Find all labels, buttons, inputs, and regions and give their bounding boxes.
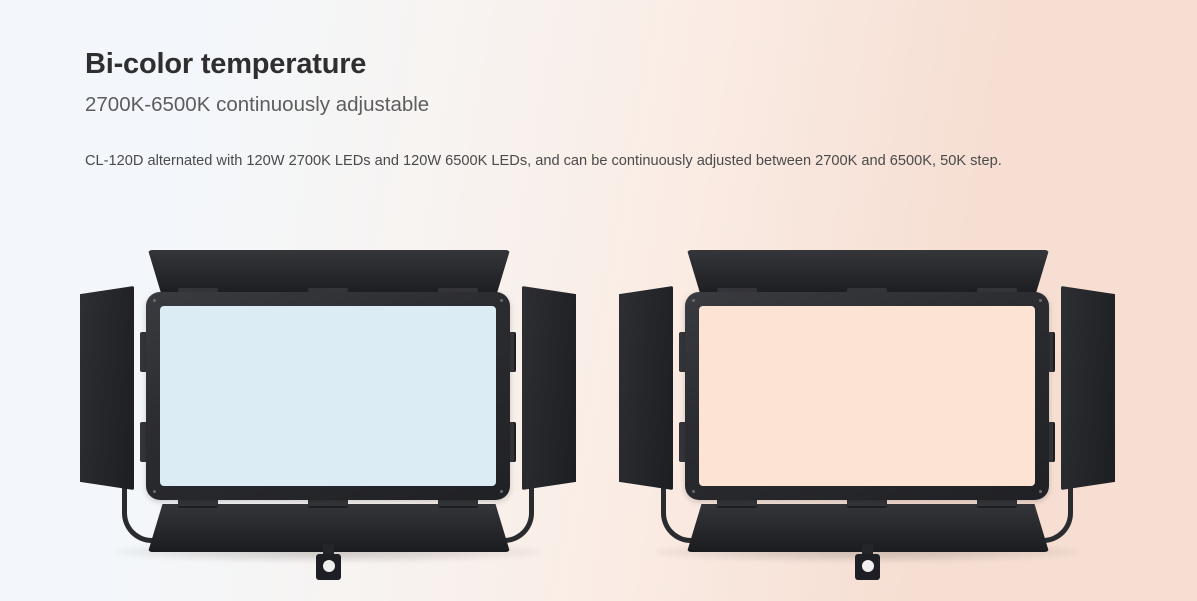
screw-bottom-left (692, 490, 695, 493)
screw-top-right (1039, 299, 1042, 302)
screw-bottom-right (1039, 490, 1042, 493)
barn-door-right (522, 286, 576, 490)
light-frame (685, 292, 1049, 500)
barn-door-left (80, 286, 134, 490)
led-light-fixture-cool (78, 248, 578, 588)
screw-top-right (500, 299, 503, 302)
light-frame (146, 292, 510, 500)
screw-bottom-right (500, 490, 503, 493)
led-light-fixture-warm (617, 248, 1117, 588)
mount-stud-hole (862, 560, 874, 572)
section-description: CL-120D alternated with 120W 2700K LEDs … (85, 149, 1025, 175)
section-subtitle: 2700K-6500K continuously adjustable (85, 92, 1045, 118)
mount-stud-hole (323, 560, 335, 572)
led-panel-cool (160, 306, 496, 486)
page-title: Bi-color temperature (85, 47, 1045, 82)
screw-bottom-left (153, 490, 156, 493)
barn-door-left (619, 286, 673, 490)
screw-top-left (153, 299, 156, 302)
led-panel-warm (699, 306, 1035, 486)
screw-top-left (692, 299, 695, 302)
section-text-block: Bi-color temperature 2700K-6500K continu… (85, 47, 1045, 175)
barn-door-right (1061, 286, 1115, 490)
bicolor-temperature-section: Bi-color temperature 2700K-6500K continu… (0, 0, 1197, 601)
